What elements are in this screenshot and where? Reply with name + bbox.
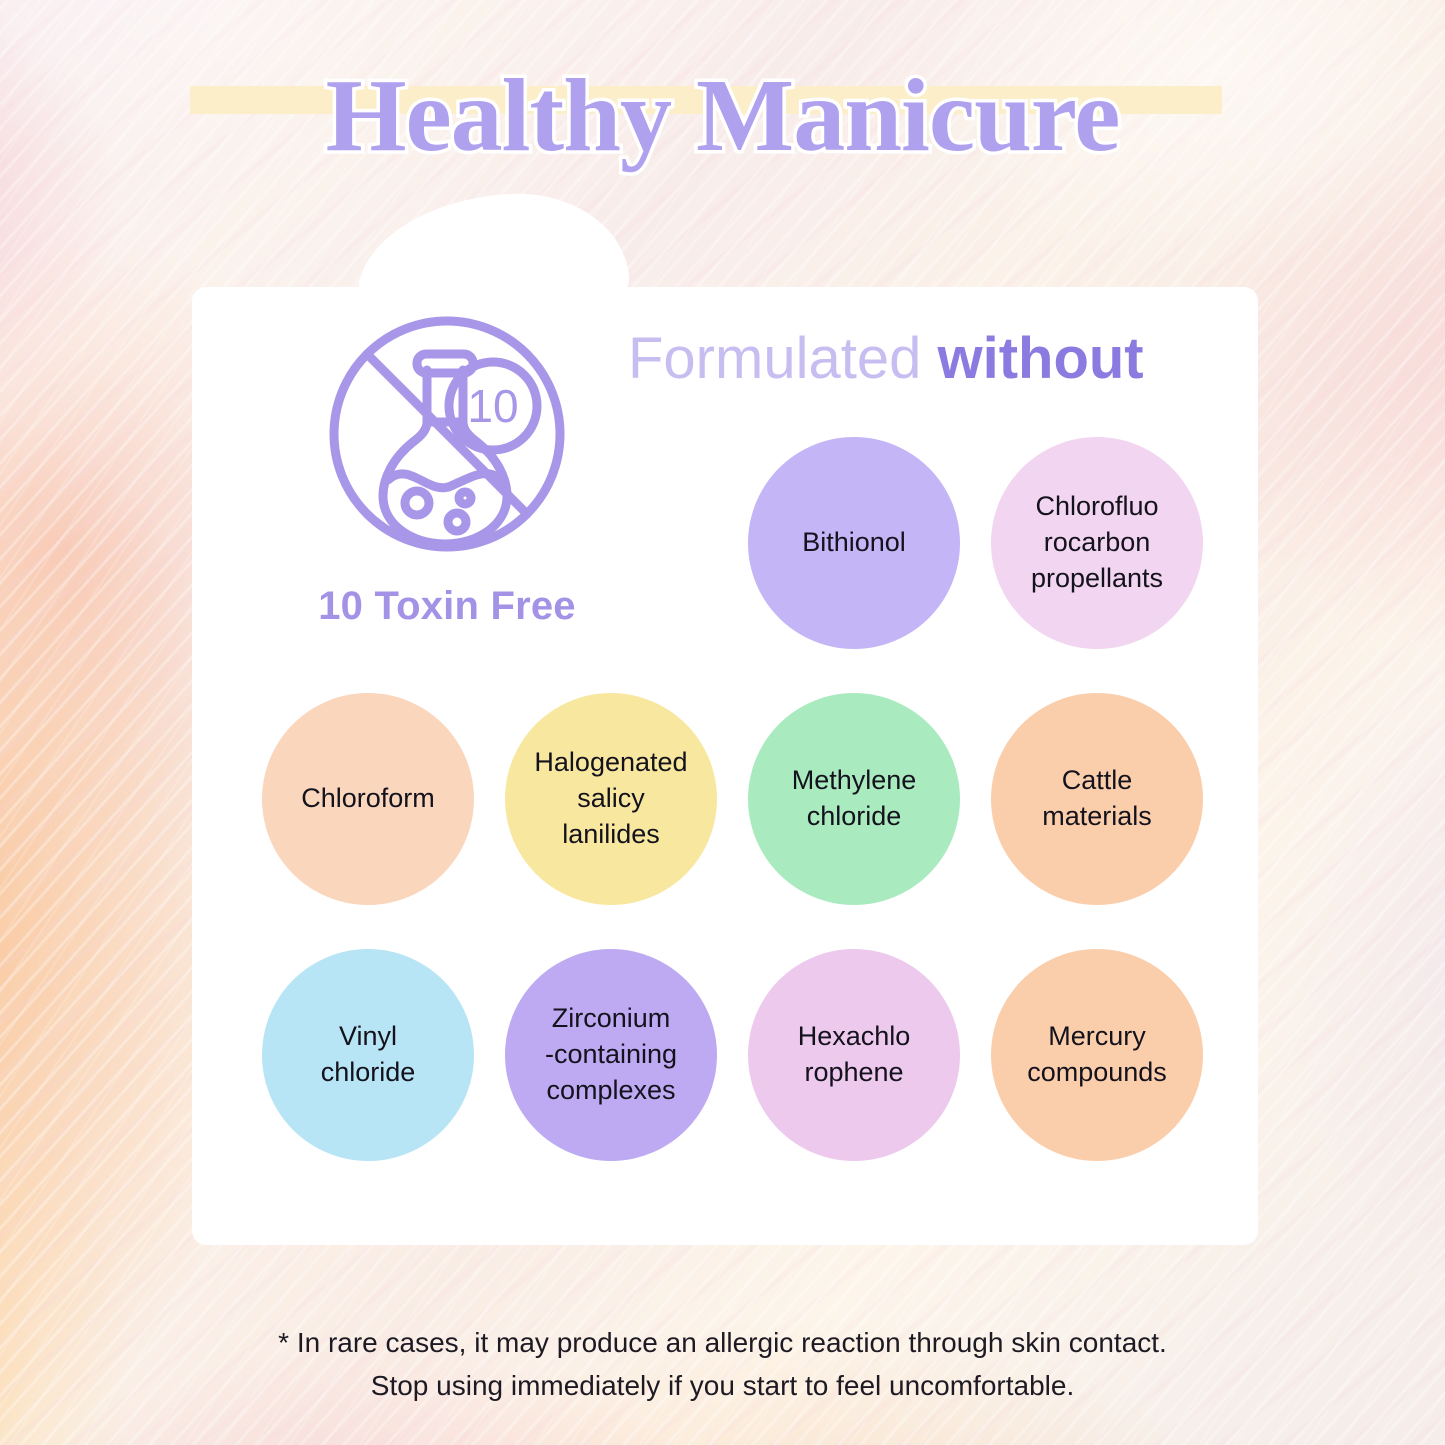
disclaimer-line-1: * In rare cases, it may produce an aller… bbox=[0, 1322, 1445, 1365]
ingredient-circle-label: Mercury compounds bbox=[1019, 1019, 1175, 1091]
formulated-without-heading: Formulated without bbox=[628, 330, 1144, 388]
ingredient-circle: Mercury compounds bbox=[991, 949, 1203, 1161]
badge-number-text: 10 bbox=[467, 380, 518, 432]
ingredient-circle-label: Vinyl chloride bbox=[313, 1019, 424, 1091]
ingredient-circle-label: Bithionol bbox=[794, 525, 914, 561]
no-chemicals-flask-icon: 10 bbox=[317, 310, 577, 568]
ingredient-circle-label: Zirconium -containing complexes bbox=[537, 1001, 685, 1109]
ingredient-circle: Methylene chloride bbox=[748, 693, 960, 905]
ingredient-circle: Chloroform bbox=[262, 693, 474, 905]
ingredient-circle: Bithionol bbox=[748, 437, 960, 649]
heading-light-part: Formulated bbox=[628, 326, 937, 391]
ingredient-circle-label: Halogenated salicy lanilides bbox=[526, 745, 695, 853]
page-title: Healthy Manicure bbox=[0, 58, 1445, 174]
disclaimer-line-2: Stop using immediately if you start to f… bbox=[0, 1365, 1445, 1408]
disclaimer-footnote: * In rare cases, it may produce an aller… bbox=[0, 1322, 1445, 1407]
ingredient-circle-label: Hexachlo rophene bbox=[790, 1019, 919, 1091]
ingredient-circle-label: Chlorofluo rocarbon propellants bbox=[1023, 489, 1171, 597]
toxin-free-badge: 10 10 Toxin Free bbox=[277, 310, 617, 629]
ingredient-circle: Cattle materials bbox=[991, 693, 1203, 905]
ingredient-circle: Halogenated salicy lanilides bbox=[505, 693, 717, 905]
ingredient-circle: Vinyl chloride bbox=[262, 949, 474, 1161]
ingredient-circle: Chlorofluo rocarbon propellants bbox=[991, 437, 1203, 649]
page-title-text: Healthy Manicure bbox=[0, 58, 1445, 174]
ingredient-circle-label: Methylene chloride bbox=[784, 763, 925, 835]
ingredient-circle-label: Cattle materials bbox=[1034, 763, 1160, 835]
toxin-free-label: 10 Toxin Free bbox=[277, 584, 617, 629]
heading-bold-part: without bbox=[937, 326, 1143, 391]
ingredient-circle: Zirconium -containing complexes bbox=[505, 949, 717, 1161]
ingredient-circle-label: Chloroform bbox=[293, 781, 443, 817]
ingredient-circle: Hexachlo rophene bbox=[748, 949, 960, 1161]
